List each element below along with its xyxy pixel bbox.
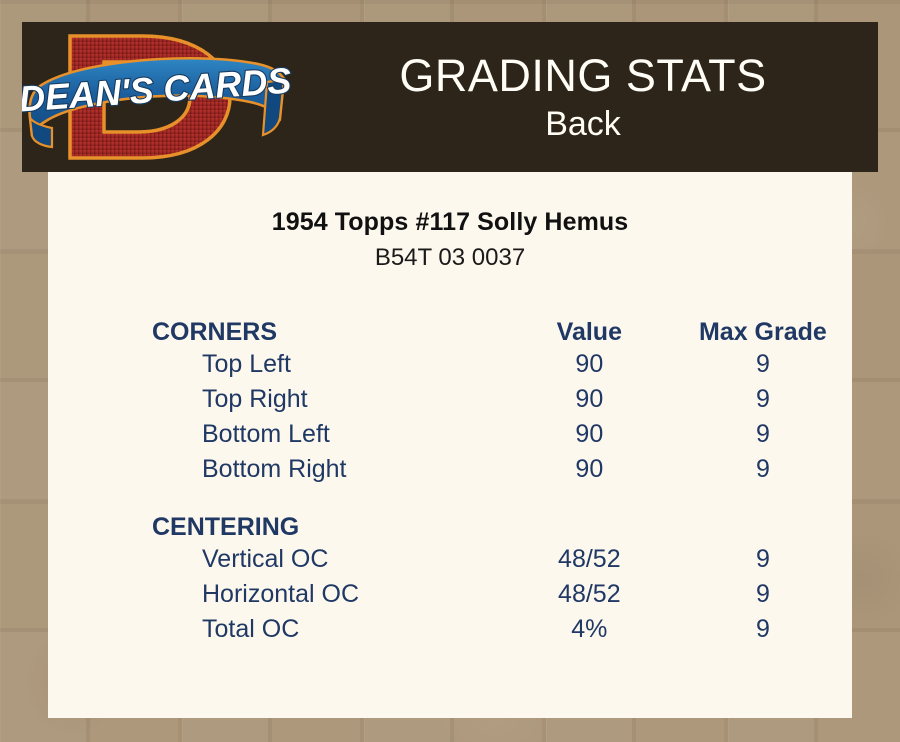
row-value: 90 xyxy=(505,417,674,452)
section-gap xyxy=(48,487,852,503)
section-title: CORNERS xyxy=(48,308,505,347)
column-header-value: Value xyxy=(505,308,674,347)
row-max-grade: 9 xyxy=(674,542,852,577)
row-label: Bottom Right xyxy=(48,452,505,487)
table-row: Top Left909 xyxy=(48,347,852,382)
column-header-max-grade: Max Grade xyxy=(674,308,852,347)
row-max-grade: 9 xyxy=(674,382,852,417)
column-header-max-grade xyxy=(674,503,852,542)
row-label: Vertical OC xyxy=(48,542,505,577)
row-value: 90 xyxy=(505,347,674,382)
row-max-grade: 9 xyxy=(674,417,852,452)
card-title: 1954 Topps #117 Solly Hemus xyxy=(48,208,852,237)
grading-stats-table: CORNERSValueMax GradeTop Left909Top Righ… xyxy=(48,308,852,647)
table-row: Bottom Right909 xyxy=(48,452,852,487)
section-header-row: CORNERSValueMax Grade xyxy=(48,308,852,347)
row-max-grade: 9 xyxy=(674,577,852,612)
content-panel: 1954 Topps #117 Solly Hemus B54T 03 0037… xyxy=(48,172,852,718)
row-max-grade: 9 xyxy=(674,612,852,647)
row-value: 48/52 xyxy=(505,577,674,612)
row-value: 90 xyxy=(505,382,674,417)
table-row: Bottom Left909 xyxy=(48,417,852,452)
deans-cards-logo[interactable]: DEAN'S CARDS xyxy=(22,22,292,172)
section-header-row: CENTERING xyxy=(48,503,852,542)
header-title-block: GRADING STATS Back xyxy=(292,50,878,144)
row-max-grade: 9 xyxy=(674,347,852,382)
row-label: Horizontal OC xyxy=(48,577,505,612)
row-value: 4% xyxy=(505,612,674,647)
column-header-value xyxy=(505,503,674,542)
page-subtitle: Back xyxy=(298,104,868,144)
row-label: Top Right xyxy=(48,382,505,417)
table-row: Top Right909 xyxy=(48,382,852,417)
card-code: B54T 03 0037 xyxy=(48,244,852,272)
page-title: GRADING STATS xyxy=(298,50,868,102)
logo-banner-text: DEAN'S CARDS xyxy=(22,60,292,120)
row-value: 48/52 xyxy=(505,542,674,577)
logo-artwork: DEAN'S CARDS xyxy=(22,22,292,172)
table-row: Vertical OC48/529 xyxy=(48,542,852,577)
row-label: Total OC xyxy=(48,612,505,647)
page-header: DEAN'S CARDS GRADING STATS Back xyxy=(22,22,878,172)
table-row: Total OC4%9 xyxy=(48,612,852,647)
table-row: Horizontal OC48/529 xyxy=(48,577,852,612)
row-max-grade: 9 xyxy=(674,452,852,487)
section-title: CENTERING xyxy=(48,503,505,542)
row-label: Top Left xyxy=(48,347,505,382)
row-value: 90 xyxy=(505,452,674,487)
row-label: Bottom Left xyxy=(48,417,505,452)
